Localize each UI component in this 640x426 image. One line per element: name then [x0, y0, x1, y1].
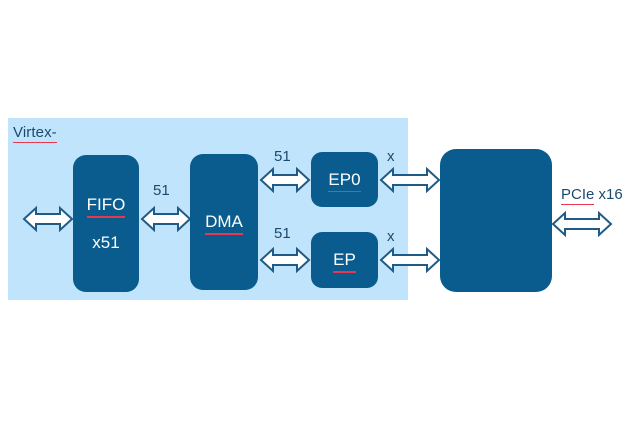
- label-dma-ep: 51: [274, 225, 291, 242]
- block-ep-line1: EP: [333, 249, 356, 270]
- label-fifo-dma: 51: [153, 182, 170, 199]
- arrow-core-external: [551, 208, 613, 240]
- block-ep0[interactable]: EP0: [311, 152, 378, 207]
- fpga-panel-label-text: Virtex-: [13, 124, 57, 141]
- label-core-external: PCIe x16: [561, 186, 623, 203]
- fpga-panel-label: Virtex-: [13, 124, 57, 141]
- label-ep0-core: x: [387, 148, 395, 165]
- block-ep0-line1: EP0: [328, 169, 360, 190]
- block-fifo-line1: FIFO: [87, 194, 126, 215]
- block-fifo[interactable]: FIFO x51: [73, 155, 139, 292]
- arrow-dma-ep: [259, 244, 311, 276]
- arrow-external-fifo: [22, 203, 74, 235]
- diagram-canvas: Virtex- FIFO x51 51 DMA 51 51: [0, 0, 640, 426]
- arrow-ep-core: [379, 244, 441, 276]
- arrow-fifo-dma: [140, 203, 192, 235]
- label-dma-ep0: 51: [274, 148, 291, 165]
- block-dma-line1: DMA: [205, 211, 243, 232]
- block-dma[interactable]: DMA: [190, 154, 258, 290]
- block-fifo-line2: x51: [92, 232, 119, 253]
- arrow-ep0-core: [379, 164, 441, 196]
- label-core-external-width: x16: [594, 186, 622, 203]
- label-core-external-pcie: PCIe: [561, 186, 594, 203]
- label-ep-core: x: [387, 228, 395, 245]
- block-ep[interactable]: EP: [311, 232, 378, 288]
- arrow-dma-ep0: [259, 164, 311, 196]
- block-pcie-core[interactable]: [440, 149, 552, 292]
